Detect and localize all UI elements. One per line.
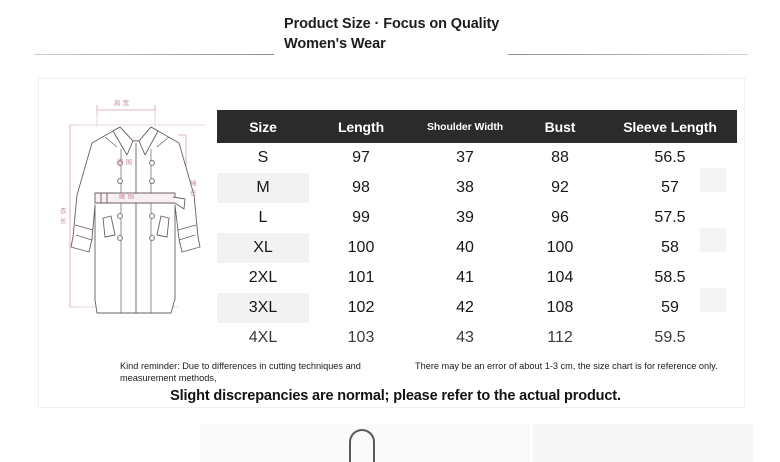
cell-length: 103 bbox=[309, 323, 413, 353]
cell-sleeve-length: 58 bbox=[603, 233, 737, 263]
cell-size: 2XL bbox=[217, 263, 309, 293]
diagram-label-sleeve-length: 袖 bbox=[190, 178, 197, 187]
diagram-label-garment-length-2: 长 bbox=[60, 216, 67, 225]
cell-length: 98 bbox=[309, 173, 413, 203]
cell-shoulder-width: 39 bbox=[413, 203, 517, 233]
disclaimer-text-right: There may be an error of about 1-3 cm, t… bbox=[415, 360, 753, 372]
cell-sleeve-length: 57.5 bbox=[603, 203, 737, 233]
cell-bust: 96 bbox=[517, 203, 603, 233]
disclaimer-block: Kind reminder: Due to differences in cut… bbox=[38, 360, 753, 390]
cell-sleeve-length: 58.5 bbox=[603, 263, 737, 293]
table-row: S97378856.5 bbox=[217, 143, 737, 173]
cell-length: 101 bbox=[309, 263, 413, 293]
page-title: Product Size · Focus on Quality Women's … bbox=[284, 14, 584, 54]
product-photo-bleed bbox=[0, 420, 780, 462]
cell-bust: 104 bbox=[517, 263, 603, 293]
diagram-label-waist: 腰 围 bbox=[119, 192, 134, 200]
cell-size: 4XL bbox=[217, 323, 309, 353]
cell-shoulder-width: 43 bbox=[413, 323, 517, 353]
photo-panel-right bbox=[533, 424, 753, 462]
cell-bust: 88 bbox=[517, 143, 603, 173]
table-row: XL1004010058 bbox=[217, 233, 737, 263]
cell-size: XL bbox=[217, 233, 309, 263]
diagram-label-garment-length: 衣 bbox=[60, 206, 67, 215]
cell-shoulder-width: 38 bbox=[413, 173, 517, 203]
cell-size: L bbox=[217, 203, 309, 233]
table-header-row: Size Length Shoulder Width Bust Sleeve L… bbox=[217, 110, 737, 143]
title-rule-right bbox=[508, 54, 748, 55]
cell-sleeve-length: 57 bbox=[603, 173, 737, 203]
cell-size: M bbox=[217, 173, 309, 203]
cell-length: 99 bbox=[309, 203, 413, 233]
size-chart-table: Size Length Shoulder Width Bust Sleeve L… bbox=[217, 110, 737, 353]
cell-length: 100 bbox=[309, 233, 413, 263]
cell-bust: 108 bbox=[517, 293, 603, 323]
cell-size: 3XL bbox=[217, 293, 309, 323]
cell-sleeve-length: 56.5 bbox=[603, 143, 737, 173]
hanger-hook-shape bbox=[349, 429, 375, 462]
column-header-sleeve-length: Sleeve Length bbox=[603, 110, 737, 143]
cell-length: 102 bbox=[309, 293, 413, 323]
garment-measurement-diagram: 肩 宽 胸 围 腰 围 袖 长 衣 长 bbox=[45, 85, 230, 365]
cell-size: S bbox=[217, 143, 309, 173]
disclaimer-emphasis: Slight discrepancies are normal; please … bbox=[38, 388, 753, 404]
diagram-label-shoulder-width: 肩 宽 bbox=[114, 98, 130, 107]
table-row: 3XL1024210859 bbox=[217, 293, 737, 323]
diagram-label-bust: 胸 围 bbox=[117, 157, 132, 166]
cell-shoulder-width: 41 bbox=[413, 263, 517, 293]
column-header-bust: Bust bbox=[517, 110, 603, 143]
table-row: 4XL1034311259.5 bbox=[217, 323, 737, 353]
cell-sleeve-length: 59.5 bbox=[603, 323, 737, 353]
page-title-line2: Women's Wear bbox=[284, 34, 584, 54]
cell-length: 97 bbox=[309, 143, 413, 173]
cell-shoulder-width: 40 bbox=[413, 233, 517, 263]
table-row: L99399657.5 bbox=[217, 203, 737, 233]
page-title-line1: Product Size · Focus on Quality bbox=[284, 16, 499, 32]
column-header-shoulder-width: Shoulder Width bbox=[413, 110, 517, 143]
title-rule-left bbox=[34, 54, 274, 55]
table-row: M98389257 bbox=[217, 173, 737, 203]
table-row: 2XL1014110458.5 bbox=[217, 263, 737, 293]
cell-bust: 112 bbox=[517, 323, 603, 353]
title-band: Product Size · Focus on Quality Women's … bbox=[0, 14, 780, 64]
column-header-size: Size bbox=[217, 110, 309, 143]
cell-bust: 100 bbox=[517, 233, 603, 263]
diagram-label-sleeve-length-2: 长 bbox=[190, 188, 197, 197]
disclaimer-text-left: Kind reminder: Due to differences in cut… bbox=[120, 360, 410, 384]
cell-shoulder-width: 42 bbox=[413, 293, 517, 323]
cell-sleeve-length: 59 bbox=[603, 293, 737, 323]
column-header-length: Length bbox=[309, 110, 413, 143]
cell-bust: 92 bbox=[517, 173, 603, 203]
cell-shoulder-width: 37 bbox=[413, 143, 517, 173]
